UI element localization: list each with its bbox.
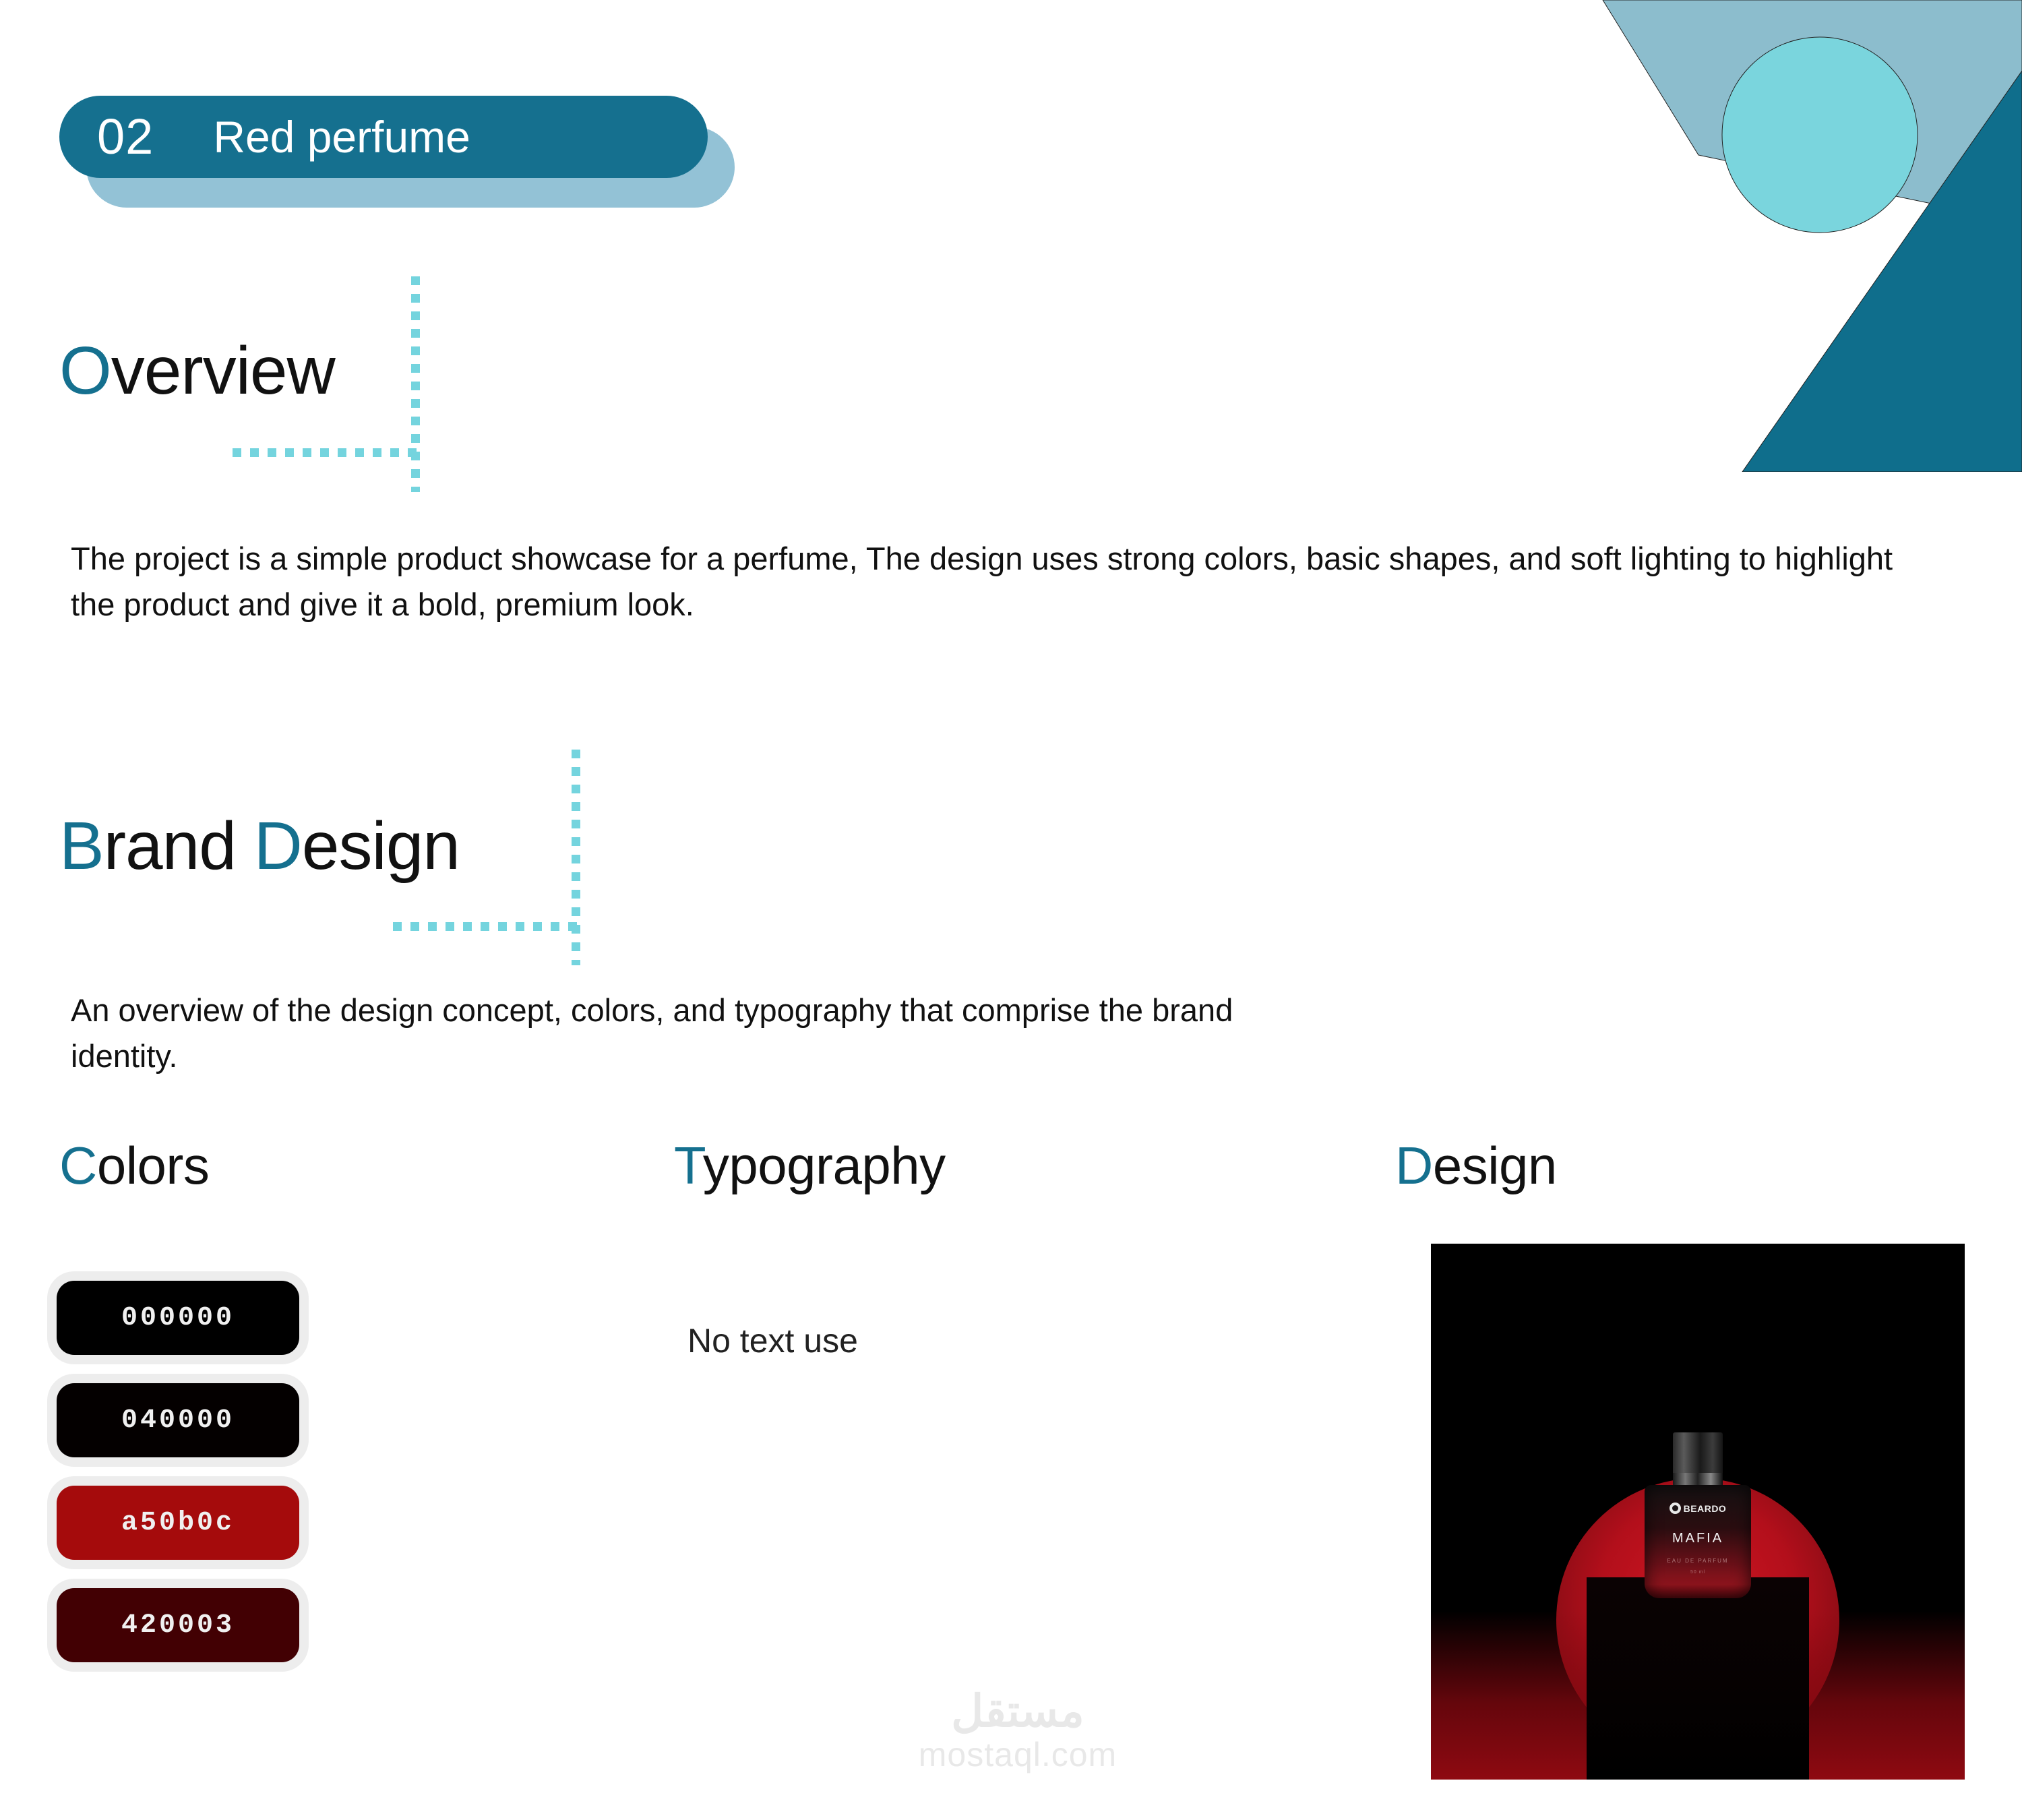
- product-volume: 50 ml: [1645, 1570, 1751, 1575]
- design-section-heading-rest: esign: [1433, 1136, 1557, 1195]
- perfume-bottle: BEARDO MAFIA EAU DE PARFUM 50 ml: [1645, 1485, 1751, 1598]
- color-swatch[interactable]: a50b0c: [57, 1486, 299, 1560]
- design-section-heading: Design: [1395, 1139, 1557, 1192]
- watermark-latin: mostaql.com: [890, 1733, 1146, 1777]
- brand-design-paragraph: An overview of the design concept, color…: [71, 988, 1338, 1079]
- section-badge: 02 Red perfume: [59, 96, 733, 217]
- design-heading-initial: D: [254, 808, 302, 884]
- deco-circle-cyan: [1722, 37, 1918, 233]
- brand-design-dotted-horizontal: [393, 922, 582, 931]
- typography-heading: Typography: [674, 1139, 946, 1192]
- beardo-logo-icon: [1669, 1503, 1681, 1514]
- product-subtitle: EAU DE PARFUM: [1645, 1558, 1751, 1564]
- overview-heading-initial: O: [59, 333, 111, 408]
- overview-heading-rest: verview: [111, 333, 335, 408]
- corner-decoration: [1550, 0, 2022, 472]
- deco-triangle-dark: [1742, 71, 2022, 472]
- typography-sample-text: No text use: [687, 1321, 858, 1360]
- mostaql-watermark: مستقل mostaql.com: [890, 1689, 1146, 1777]
- typography-heading-rest: ypography: [703, 1136, 946, 1195]
- color-swatch[interactable]: 000000: [57, 1281, 299, 1355]
- colors-heading-rest: olors: [97, 1136, 210, 1195]
- badge-pill: 02 Red perfume: [59, 96, 708, 178]
- bottle-body: BEARDO MAFIA EAU DE PARFUM 50 ml: [1645, 1485, 1751, 1598]
- product-pedestal: [1587, 1577, 1809, 1780]
- bottle-cap: [1673, 1432, 1723, 1474]
- badge-title: Red perfume: [213, 115, 470, 159]
- brand-logo-text: BEARDO: [1684, 1503, 1727, 1514]
- color-swatch-label: 040000: [121, 1405, 235, 1436]
- overview-paragraph: The project is a simple product showcase…: [71, 536, 1931, 628]
- color-swatch[interactable]: 040000: [57, 1383, 299, 1457]
- color-swatch-label: a50b0c: [121, 1508, 235, 1538]
- colors-heading: Colors: [59, 1139, 209, 1192]
- overview-heading: Overview: [59, 337, 335, 404]
- brand-design-heading: Brand Design: [59, 812, 460, 880]
- badge-number: 02: [97, 112, 154, 162]
- design-heading-rest: esign: [302, 808, 460, 884]
- brand-heading-rest: rand: [104, 808, 254, 884]
- overview-dotted-horizontal: [233, 448, 421, 457]
- brand-heading-initial: B: [59, 808, 104, 884]
- color-swatch-label: 000000: [121, 1303, 235, 1333]
- deco-triangle-light: [1603, 0, 2022, 222]
- watermark-arabic: مستقل: [890, 1689, 1146, 1733]
- color-swatch-label: 420003: [121, 1610, 235, 1641]
- bottle-neck: [1673, 1473, 1723, 1486]
- typography-heading-initial: T: [674, 1136, 703, 1195]
- colors-heading-initial: C: [59, 1136, 97, 1195]
- product-showcase-image: BEARDO MAFIA EAU DE PARFUM 50 ml: [1431, 1244, 1965, 1780]
- brand-logo: BEARDO: [1645, 1503, 1751, 1514]
- color-swatch-list: 000000040000a50b0c420003: [57, 1281, 299, 1691]
- overview-dotted-vertical: [411, 276, 420, 492]
- brand-design-dotted-vertical: [572, 750, 580, 965]
- product-name: MAFIA: [1645, 1531, 1751, 1546]
- color-swatch[interactable]: 420003: [57, 1588, 299, 1662]
- design-section-heading-initial: D: [1395, 1136, 1433, 1195]
